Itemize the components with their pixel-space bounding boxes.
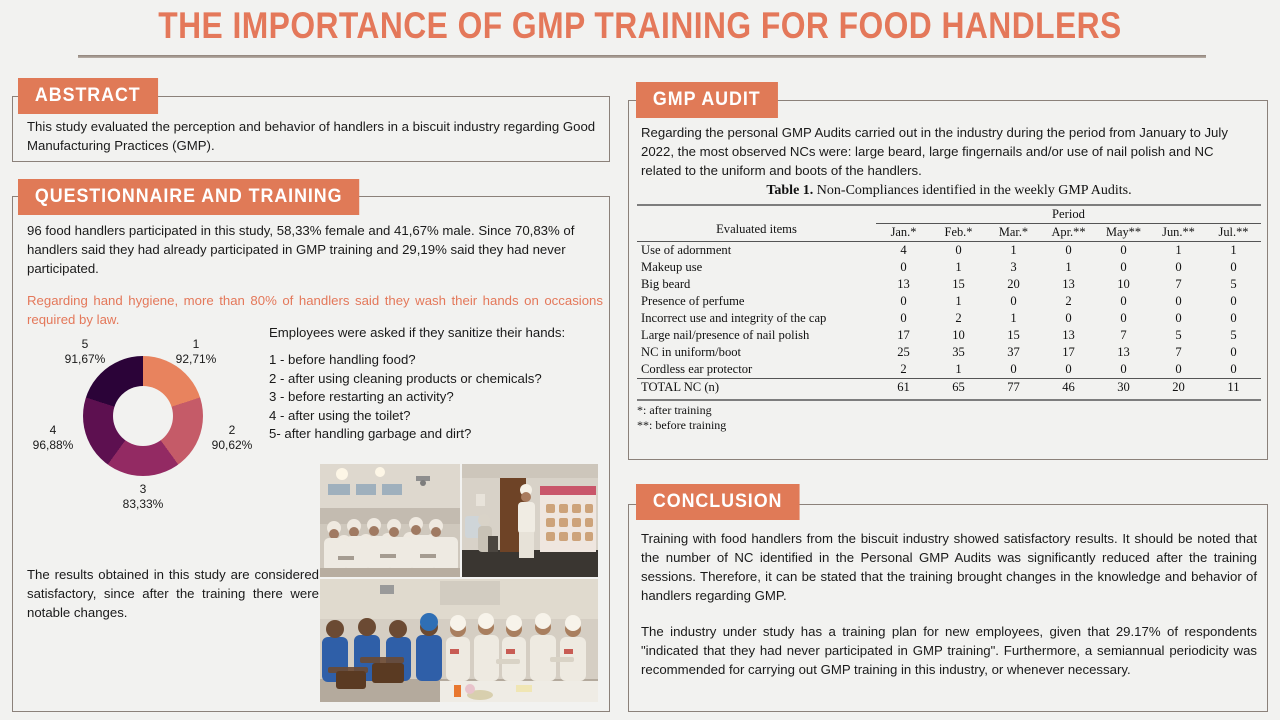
table-cell-value: 0 bbox=[986, 293, 1041, 310]
questions-heading: Employees were asked if they sanitize th… bbox=[269, 323, 599, 342]
table-cell-value: 7 bbox=[1151, 276, 1206, 293]
table-cell-value: 2 bbox=[931, 310, 986, 327]
column-header-month: Jan.* bbox=[876, 224, 931, 242]
table-cell-value: 0 bbox=[1041, 361, 1096, 379]
table-cell-value: 3 bbox=[986, 259, 1041, 276]
section-header-conclusion: CONCLUSION bbox=[636, 484, 799, 520]
table-cell-value: 0 bbox=[1151, 361, 1206, 379]
table-cell-value: 20 bbox=[986, 276, 1041, 293]
hand-hygiene-donut-chart: 1 92,71% 2 90,62% 3 83,33% 4 96,88% 5 91… bbox=[31, 337, 259, 527]
questionnaire-panel: 96 food handlers participated in this st… bbox=[12, 196, 610, 712]
conclusion-text-block: Training with food handlers from the bis… bbox=[641, 529, 1257, 679]
table-cell-value: 1 bbox=[1151, 242, 1206, 260]
table-row: Cordless ear protector2100000 bbox=[637, 361, 1261, 379]
column-header-month: Jul.** bbox=[1206, 224, 1261, 242]
table-cell-value: 1 bbox=[931, 293, 986, 310]
table-cell-item: Makeup use bbox=[637, 259, 876, 276]
conclusion-panel: Training with food handlers from the bis… bbox=[628, 504, 1268, 712]
table-cell-value: 0 bbox=[1151, 259, 1206, 276]
table-cell-value: 15 bbox=[931, 276, 986, 293]
question-item: 2 - after using cleaning products or che… bbox=[269, 370, 599, 389]
photo-collage bbox=[320, 464, 598, 702]
column-header-month: Jun.** bbox=[1151, 224, 1206, 242]
table-caption-text: Non-Compliances identified in the weekly… bbox=[817, 183, 1132, 198]
table-cell-value: 25 bbox=[876, 344, 931, 361]
table-cell-value: 0 bbox=[1041, 242, 1096, 260]
table-cell-value: 0 bbox=[1096, 259, 1151, 276]
table-cell-value: 0 bbox=[1151, 293, 1206, 310]
table-cell-value: 13 bbox=[1041, 276, 1096, 293]
table-cell-value: 0 bbox=[986, 361, 1041, 379]
table-cell-value: 0 bbox=[1096, 242, 1151, 260]
table-cell-total-value: 65 bbox=[931, 379, 986, 397]
table-cell-value: 0 bbox=[876, 293, 931, 310]
table-cell-value: 0 bbox=[1096, 293, 1151, 310]
table-cell-total-value: 77 bbox=[986, 379, 1041, 397]
column-header-month: Mar.* bbox=[986, 224, 1041, 242]
table-cell-total-value: 11 bbox=[1206, 379, 1261, 397]
table-cell-value: 7 bbox=[1096, 327, 1151, 344]
table-total-row: TOTAL NC (n)61657746302011 bbox=[637, 379, 1261, 397]
table-cell-item: NC in uniform/boot bbox=[637, 344, 876, 361]
table-cell-value: 0 bbox=[876, 259, 931, 276]
table-cell-value: 0 bbox=[1096, 361, 1151, 379]
section-header-abstract: ABSTRACT bbox=[18, 78, 158, 114]
table-cell-value: 37 bbox=[986, 344, 1041, 361]
table-cell-item: Use of adornment bbox=[637, 242, 876, 260]
donut-label-4: 4 96,88% bbox=[17, 423, 89, 453]
column-group-header-period: Period bbox=[876, 205, 1261, 224]
gmp-audit-text: Regarding the personal GMP Audits carrie… bbox=[641, 123, 1257, 180]
table-cell-value: 0 bbox=[1206, 259, 1261, 276]
table-cell-value: 5 bbox=[1206, 276, 1261, 293]
results-text: The results obtained in this study are c… bbox=[27, 565, 319, 622]
table-cell-value: 17 bbox=[876, 327, 931, 344]
table-cell-value: 2 bbox=[1041, 293, 1096, 310]
table-cell-value: 10 bbox=[1096, 276, 1151, 293]
presenter-projector-photo bbox=[462, 464, 598, 577]
table-cell-item: Cordless ear protector bbox=[637, 361, 876, 379]
donut-label-1: 1 92,71% bbox=[161, 337, 231, 367]
conclusion-paragraph-1: Training with food handlers from the bis… bbox=[641, 529, 1257, 605]
title-divider bbox=[78, 55, 1206, 58]
table-cell-value: 0 bbox=[876, 310, 931, 327]
table-cell-item: Big beard bbox=[637, 276, 876, 293]
table-cell-value: 0 bbox=[1206, 293, 1261, 310]
table-cell-total-value: 30 bbox=[1096, 379, 1151, 397]
title-area: THE IMPORTANCE OF GMP TRAINING FOR FOOD … bbox=[0, 4, 1280, 48]
table-cell-value: 0 bbox=[1041, 310, 1096, 327]
table-cell-total-value: 20 bbox=[1151, 379, 1206, 397]
table-cell-value: 5 bbox=[1151, 327, 1206, 344]
abstract-text: This study evaluated the perception and … bbox=[27, 117, 597, 155]
column-header-month: May** bbox=[1096, 224, 1151, 242]
question-item: 3 - before restarting an activity? bbox=[269, 388, 599, 407]
table-cell-value: 13 bbox=[1096, 344, 1151, 361]
question-item: 5- after handling garbage and dirt? bbox=[269, 425, 599, 444]
question-item: 4 - after using the toilet? bbox=[269, 407, 599, 426]
nc-table: Evaluated items Period Jan.* Feb.* Mar.*… bbox=[637, 204, 1261, 396]
table-cell-value: 15 bbox=[986, 327, 1041, 344]
table-row: Incorrect use and integrity of the cap02… bbox=[637, 310, 1261, 327]
table-cell-item: Large nail/presence of nail polish bbox=[637, 327, 876, 344]
donut-label-3: 3 83,33% bbox=[107, 482, 179, 512]
table-row: Presence of perfume0102000 bbox=[637, 293, 1261, 310]
table-cell-value: 2 bbox=[876, 361, 931, 379]
donut-center-hole bbox=[113, 386, 173, 446]
poster-root: THE IMPORTANCE OF GMP TRAINING FOR FOOD … bbox=[0, 0, 1280, 720]
table-caption: Table 1. Non-Compliances identified in t… bbox=[637, 183, 1261, 199]
table-cell-value: 17 bbox=[1041, 344, 1096, 361]
table-group-header-row: Evaluated items Period bbox=[637, 205, 1261, 224]
table-cell-value: 1 bbox=[986, 310, 1041, 327]
page-title: THE IMPORTANCE OF GMP TRAINING FOR FOOD … bbox=[90, 4, 1191, 48]
donut-label-2: 2 90,62% bbox=[196, 423, 268, 453]
table-row: Use of adornment4010011 bbox=[637, 242, 1261, 260]
section-header-gmp-audit: GMP AUDIT bbox=[636, 82, 778, 118]
table-cell-value: 13 bbox=[876, 276, 931, 293]
table-cell-value: 1 bbox=[1206, 242, 1261, 260]
table-cell-value: 1 bbox=[986, 242, 1041, 260]
table-cell-value: 7 bbox=[1151, 344, 1206, 361]
table-cell-value: 4 bbox=[876, 242, 931, 260]
table-cell-value: 1 bbox=[931, 259, 986, 276]
table-row: Big beard131520131075 bbox=[637, 276, 1261, 293]
sanitize-questions-list: Employees were asked if they sanitize th… bbox=[269, 323, 599, 444]
table-cell-value: 35 bbox=[931, 344, 986, 361]
column-header-evaluated-items: Evaluated items bbox=[637, 205, 876, 242]
table-cell-total-value: 46 bbox=[1041, 379, 1096, 397]
table-row: NC in uniform/boot253537171370 bbox=[637, 344, 1261, 361]
table-cell-value: 0 bbox=[931, 242, 986, 260]
table-cell-value: 0 bbox=[1206, 344, 1261, 361]
column-header-month: Feb.* bbox=[931, 224, 986, 242]
classroom-trainees-photo bbox=[320, 464, 460, 577]
table-footnotes: *: after training **: before training bbox=[637, 399, 1261, 433]
table-row: Large nail/presence of nail polish171015… bbox=[637, 327, 1261, 344]
table-cell-value: 0 bbox=[1096, 310, 1151, 327]
question-item: 1 - before handling food? bbox=[269, 351, 599, 370]
donut-label-5: 5 91,67% bbox=[49, 337, 121, 367]
nc-table-body: Use of adornment4010011Makeup use0131000… bbox=[637, 242, 1261, 397]
section-header-questionnaire: QUESTIONNAIRE AND TRAINING bbox=[18, 179, 359, 215]
table-cell-value: 13 bbox=[1041, 327, 1096, 344]
nc-table-head: Evaluated items Period Jan.* Feb.* Mar.*… bbox=[637, 205, 1261, 242]
table-cell-value: 0 bbox=[1151, 310, 1206, 327]
table-cell-item: Presence of perfume bbox=[637, 293, 876, 310]
table-cell-value: 1 bbox=[1041, 259, 1096, 276]
column-header-month: Apr.** bbox=[1041, 224, 1096, 242]
questionnaire-paragraph-1: 96 food handlers participated in this st… bbox=[27, 221, 597, 278]
table-cell-value: 10 bbox=[931, 327, 986, 344]
table-cell-value: 0 bbox=[1206, 310, 1261, 327]
table-row: Makeup use0131000 bbox=[637, 259, 1261, 276]
questionnaire-text-block: 96 food handlers participated in this st… bbox=[27, 221, 597, 329]
footnote: *: after training bbox=[637, 403, 1261, 418]
nc-table-wrapper: Table 1. Non-Compliances identified in t… bbox=[637, 183, 1261, 433]
table-cell-value: 5 bbox=[1206, 327, 1261, 344]
table-cell-value: 1 bbox=[931, 361, 986, 379]
training-session-photo bbox=[320, 579, 598, 702]
table-cell-total-value: 61 bbox=[876, 379, 931, 397]
table-caption-label: Table 1. bbox=[766, 183, 813, 198]
conclusion-paragraph-2: The industry under study has a training … bbox=[641, 622, 1257, 679]
table-cell-value: 0 bbox=[1206, 361, 1261, 379]
footnote: **: before training bbox=[637, 418, 1261, 433]
gmp-audit-panel: Regarding the personal GMP Audits carrie… bbox=[628, 100, 1268, 460]
table-cell-item: Incorrect use and integrity of the cap bbox=[637, 310, 876, 327]
table-cell-total-label: TOTAL NC (n) bbox=[637, 379, 876, 397]
